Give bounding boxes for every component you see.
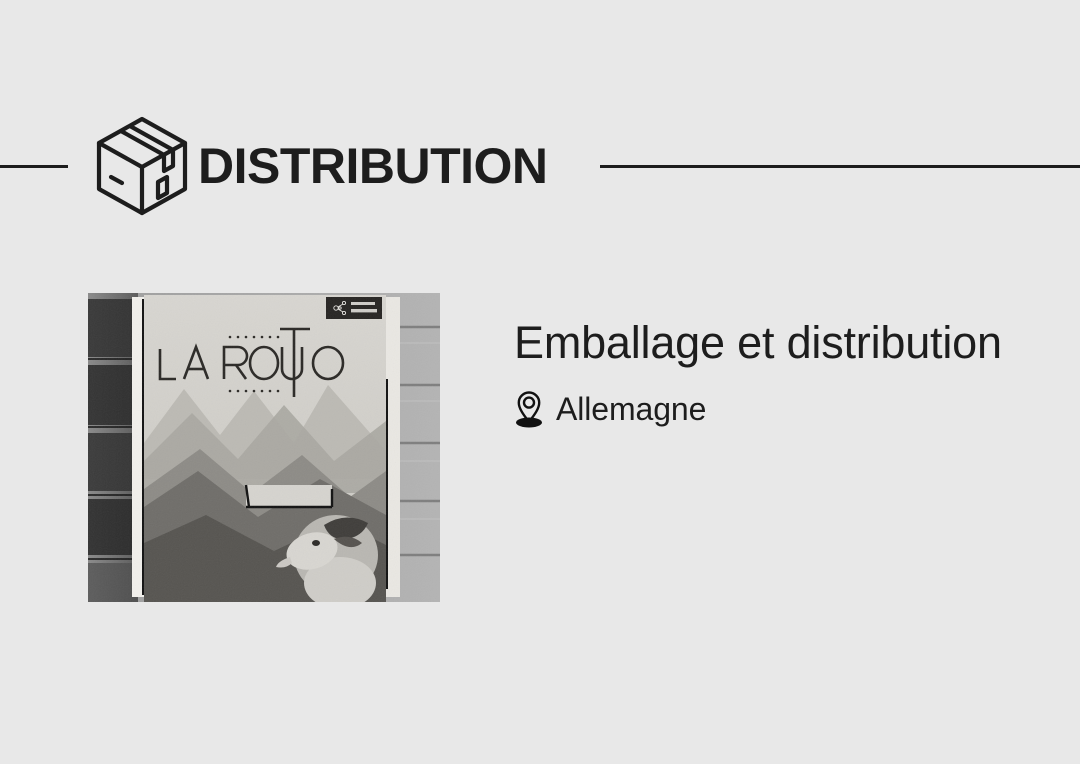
product-photo [88, 293, 440, 602]
page-title: DISTRIBUTION [198, 141, 548, 191]
location-label: Allemagne [556, 393, 706, 425]
package-box-icon [94, 114, 190, 218]
section-header: DISTRIBUTION [0, 110, 1080, 222]
info-title: Emballage et distribution [514, 318, 1074, 368]
header-rule-right [600, 165, 1080, 168]
location-row: Allemagne [514, 390, 1074, 428]
header-rule-left [0, 165, 68, 168]
info-block: Emballage et distribution Allemagne [514, 318, 1074, 428]
map-pin-icon [514, 390, 544, 428]
